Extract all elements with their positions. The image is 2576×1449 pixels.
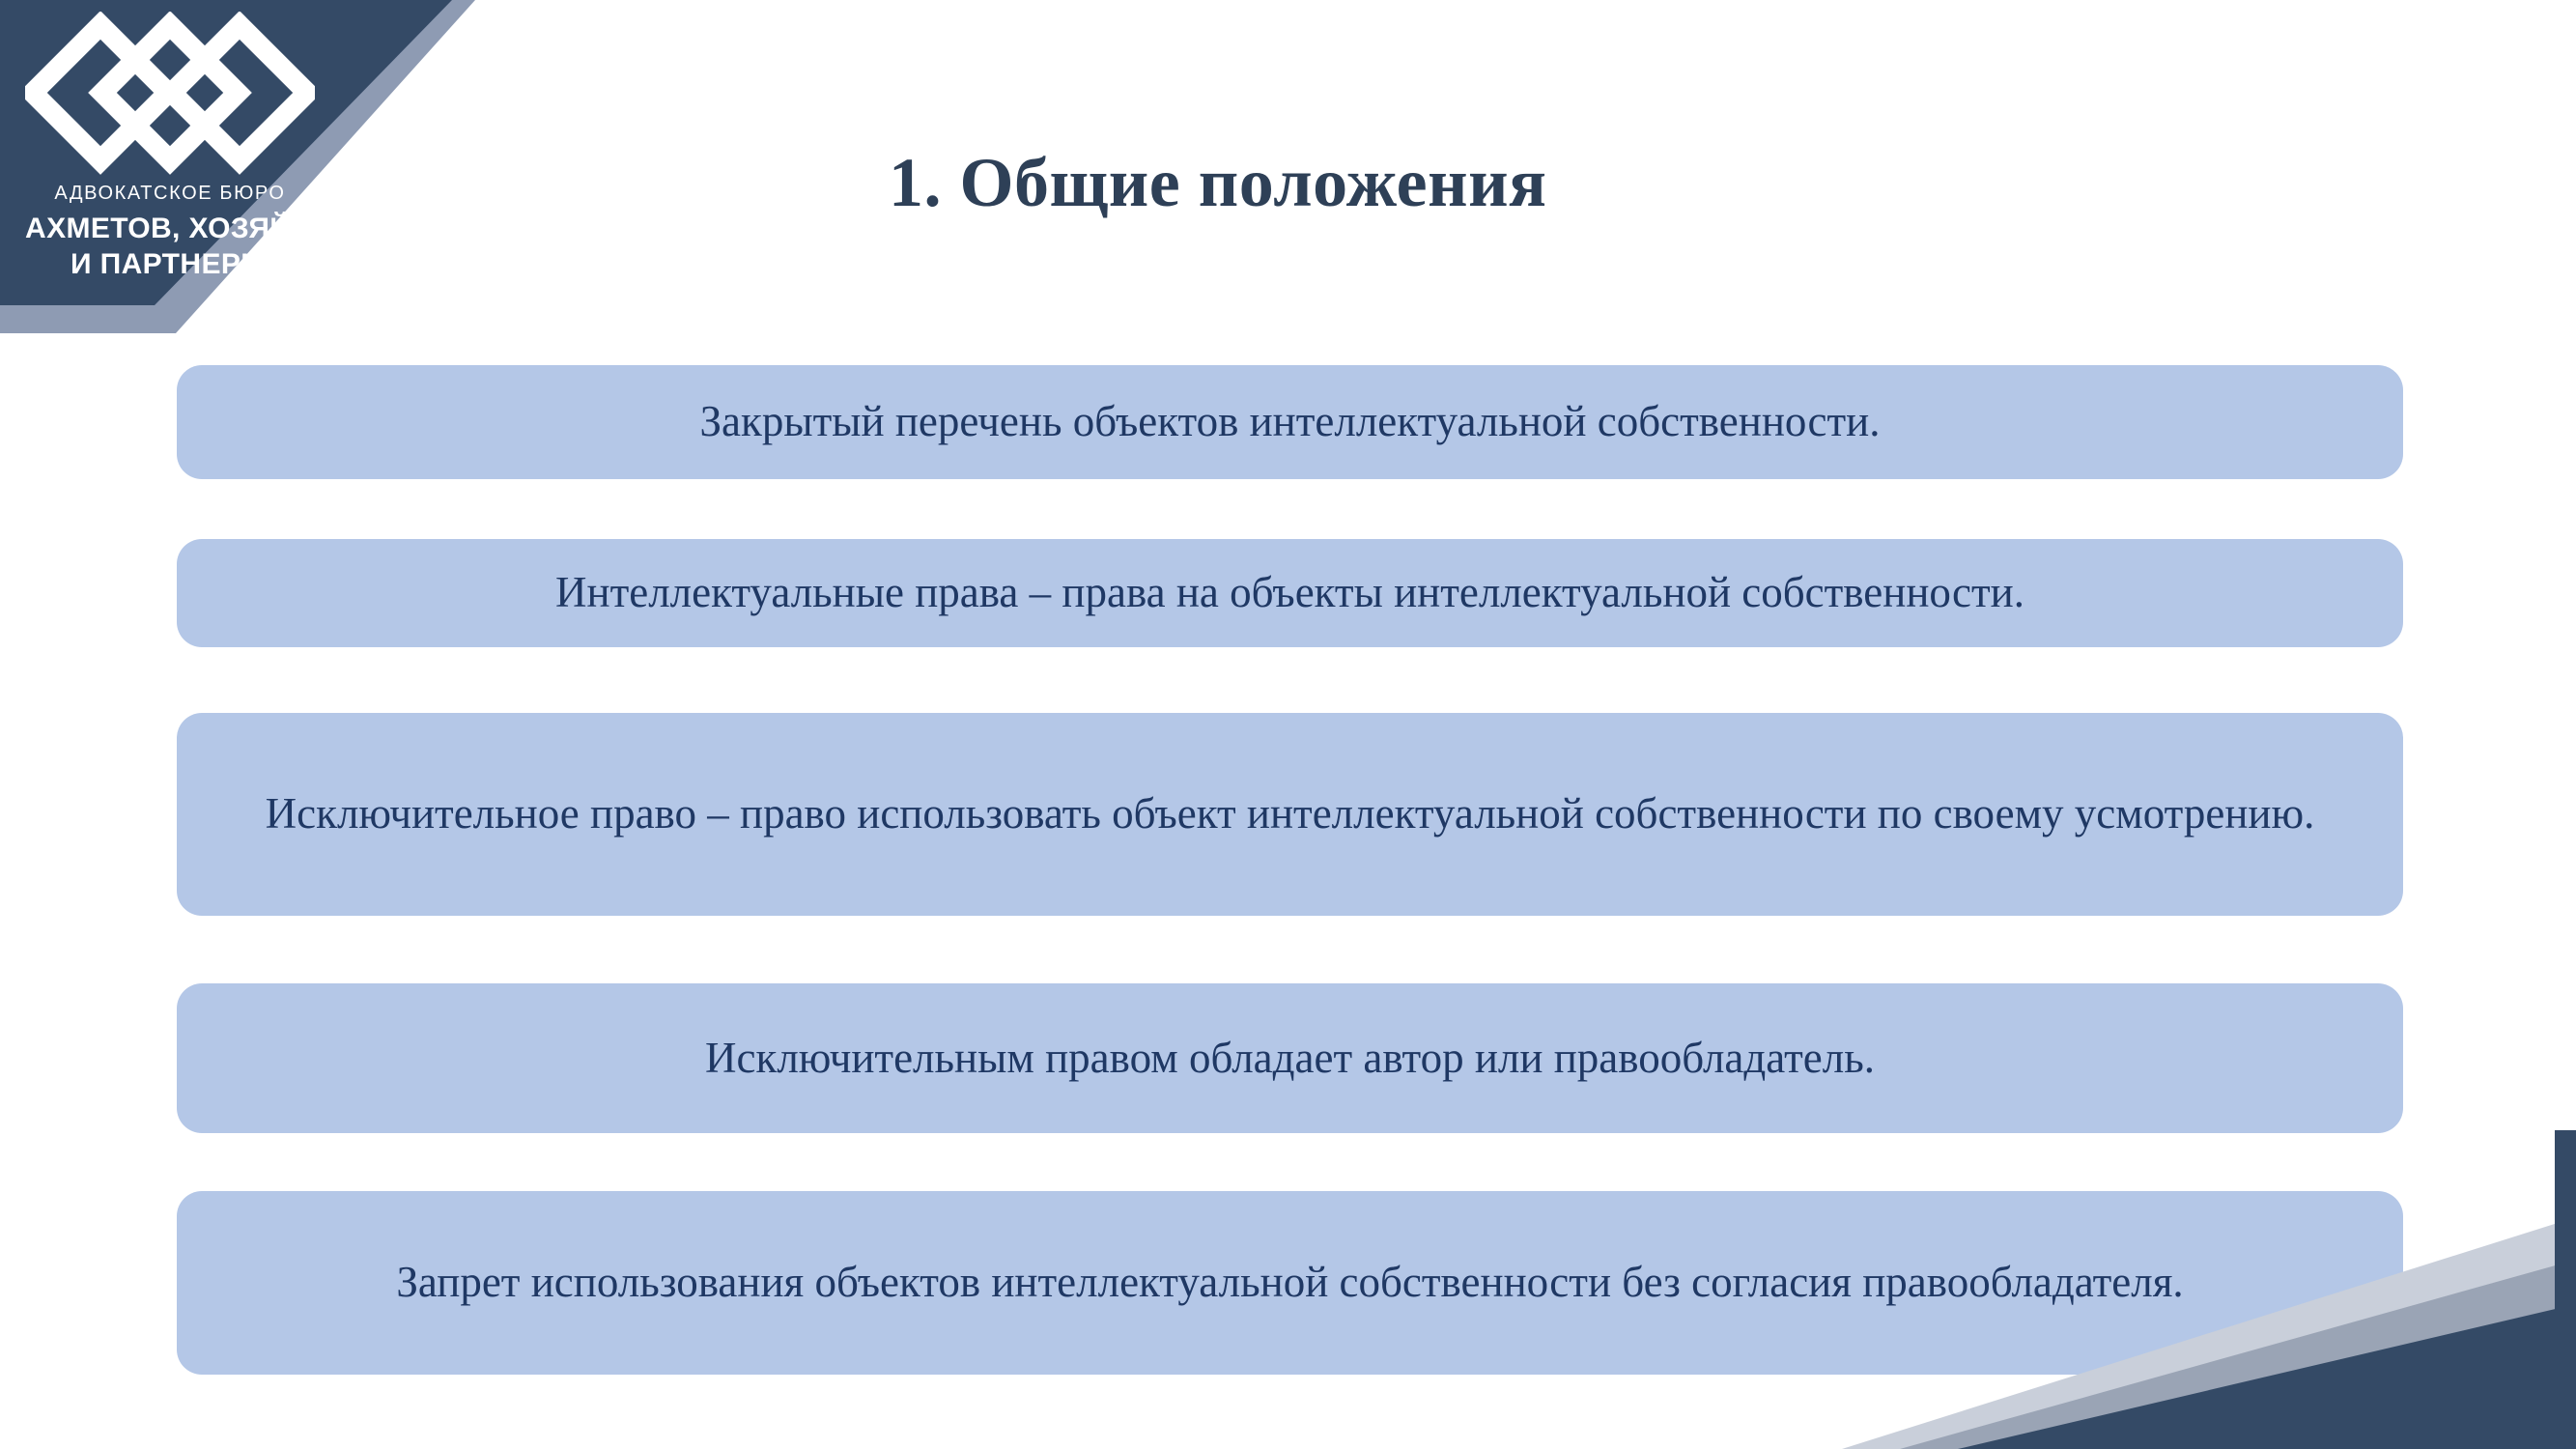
slide-title: 1. Общие положения: [889, 143, 1547, 223]
content-box-2: Интеллектуальные права – права на объект…: [177, 539, 2403, 647]
presentation-slide: АДВОКАТСКОЕ БЮРО АХМЕТОВ, ХОЗЯЙКИН И ПАР…: [0, 0, 2576, 1449]
logo-line-2: АХМЕТОВ, ХОЗЯЙКИН: [25, 212, 315, 247]
content-box-3: Исключительное право – право использоват…: [177, 713, 2403, 916]
bottom-right-navy-edge: [2555, 1130, 2576, 1449]
content-box-2-text: Интеллектуальные права – права на объект…: [555, 562, 2024, 624]
logo-line-3: И ПАРТНЕРЫ: [25, 247, 315, 283]
content-box-5: Запрет использования объектов интеллекту…: [177, 1191, 2403, 1375]
company-logo: АДВОКАТСКОЕ БЮРО АХМЕТОВ, ХОЗЯЙКИН И ПАР…: [25, 12, 315, 282]
content-box-1: Закрытый перечень объектов интеллектуаль…: [177, 365, 2403, 479]
logo-line-1: АДВОКАТСКОЕ БЮРО: [25, 180, 315, 208]
content-box-4: Исключительным правом обладает автор или…: [177, 983, 2403, 1133]
logo-wordmark: АДВОКАТСКОЕ БЮРО АХМЕТОВ, ХОЗЯЙКИН И ПАР…: [25, 180, 315, 282]
content-box-1-text: Закрытый перечень объектов интеллектуаль…: [700, 391, 1881, 453]
content-box-list: Закрытый перечень объектов интеллектуаль…: [177, 365, 2403, 1375]
interlocking-diamonds-icon: [25, 12, 315, 178]
content-box-4-text: Исключительным правом обладает автор или…: [705, 1028, 1875, 1090]
content-box-3-text: Исключительное право – право использоват…: [266, 783, 2315, 845]
content-box-5-text: Запрет использования объектов интеллекту…: [396, 1252, 2183, 1314]
